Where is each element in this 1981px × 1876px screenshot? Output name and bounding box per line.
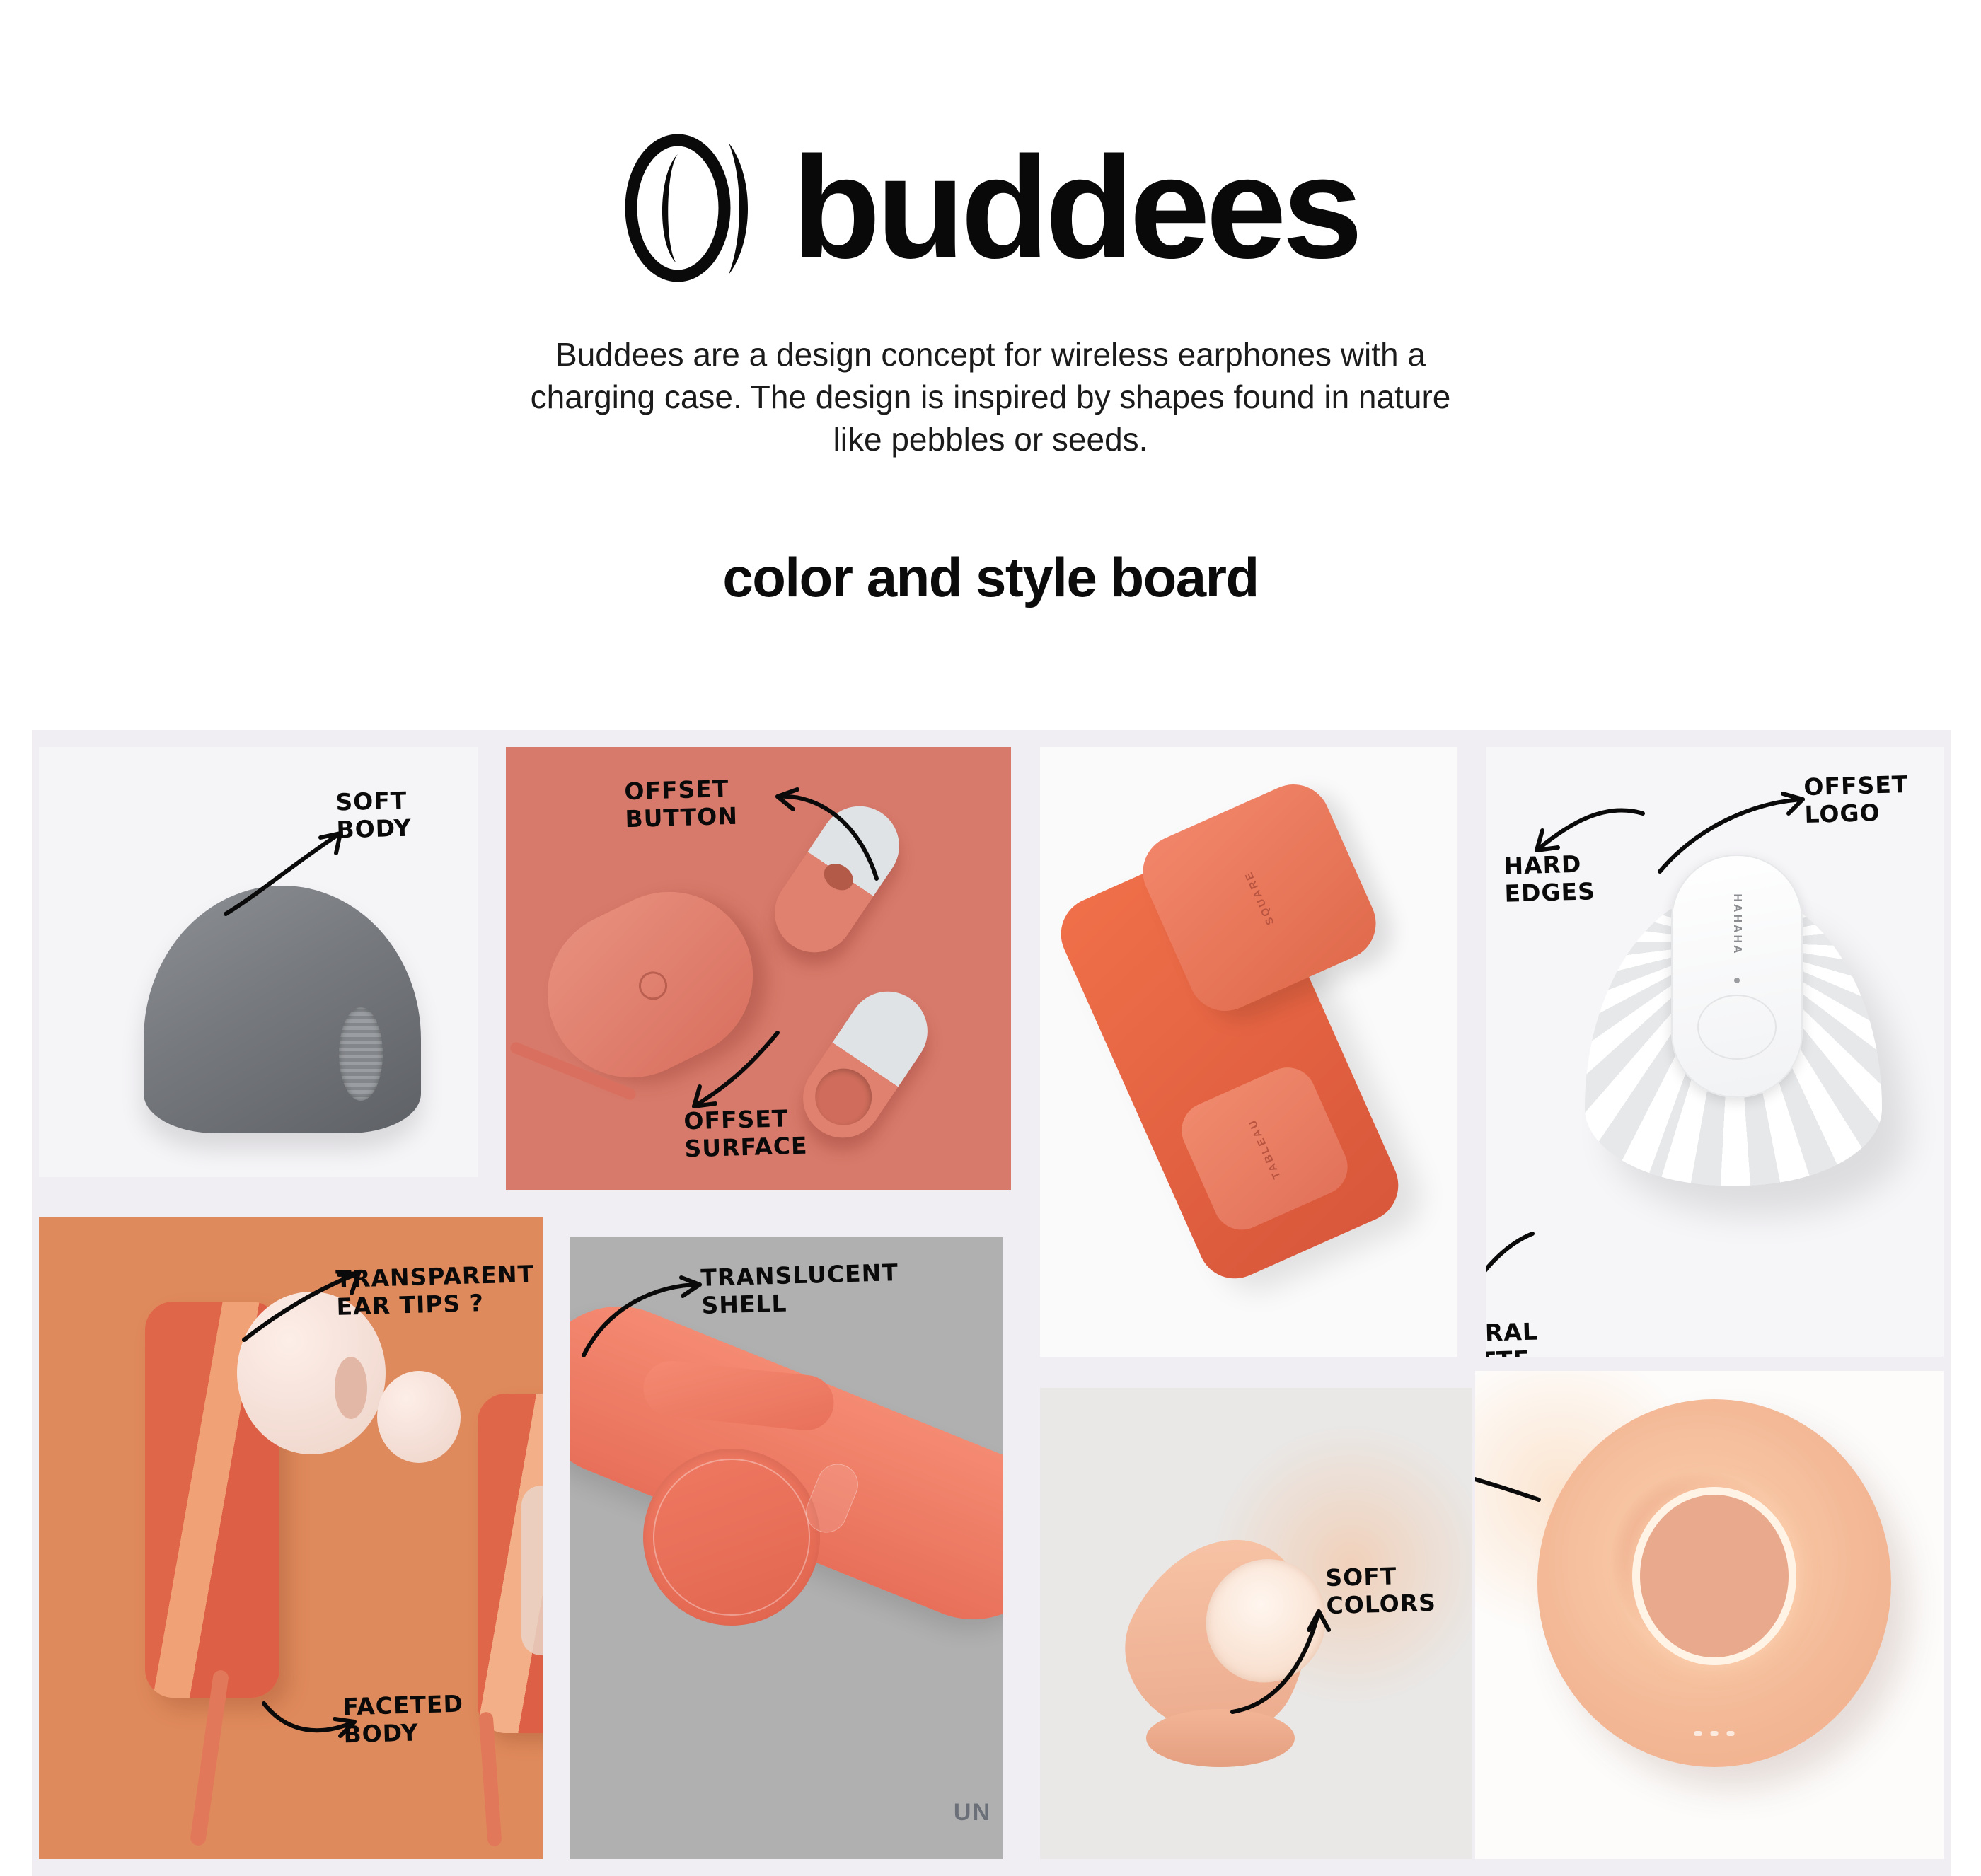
tile-soft-lamp[interactable]: Soft Colors [1040, 1388, 1472, 1859]
earbud-capsule-top [759, 791, 914, 968]
tile-hard-edges[interactable]: HAHAHA Offset Logo Hard Edges Neutral Pa… [1486, 747, 1944, 1357]
board-section-title: color and style board [0, 545, 1981, 610]
color-and-style-board: Soft Body Offset Button Offset Surface T… [32, 730, 1951, 1876]
orange-earbud-right-image [478, 1394, 543, 1733]
tile-translucent-shell[interactable]: UN Translucent Shell [570, 1237, 1003, 1859]
annotation-offset-surface: Offset Surface [683, 1105, 808, 1164]
device-word-label: UN [954, 1799, 991, 1826]
tray-label-a: SQUARE [1242, 869, 1277, 927]
annotation-soft-colors: Soft Colors [1325, 1562, 1436, 1620]
brand-wordmark: buddees [792, 149, 1359, 267]
brand-lockup: buddees [623, 133, 1359, 283]
intro-paragraph: Buddees are a design concept for wireles… [509, 334, 1472, 461]
cone-top-module: HAHAHA [1671, 855, 1803, 1098]
earbud-touch-strip [521, 1486, 543, 1655]
annotation-hard-edges: Hard Edges [1503, 850, 1595, 908]
ring-inner-light [1640, 1495, 1789, 1657]
tube-round-cap [643, 1449, 820, 1626]
tile-faceted-body[interactable]: Transparent Ear Tips ? Faceted Body [39, 1217, 543, 1859]
tile-peach-ring[interactable] [1475, 1371, 1944, 1859]
annotation-offset-logo: Offset Logo [1803, 771, 1910, 829]
tile-soft-body[interactable]: Soft Body [39, 747, 478, 1177]
annotation-offset-button: Offset Button [624, 775, 739, 833]
peach-lamp-base [1146, 1709, 1295, 1767]
tray-inner-panel: TABLEAU [1172, 1058, 1356, 1239]
grey-dome-case-image [144, 886, 421, 1133]
arrow-to-neutral-palette-icon [1486, 1227, 1549, 1333]
cone-button[interactable] [1697, 995, 1777, 1060]
peach-ring-lamp-image [1537, 1399, 1891, 1767]
tray-label-b: TABLEAU [1246, 1116, 1283, 1181]
ring-indicator-dots-icon [1694, 1731, 1735, 1736]
annotation-translucent-shell: Translucent Shell [700, 1259, 899, 1320]
tile-orange-trays[interactable]: TABLEAU SQUARE [1040, 747, 1457, 1357]
tile-offset-case[interactable]: Offset Button Offset Surface [506, 747, 1011, 1190]
annotation-neutral-palette: Neutral Palette [1486, 1319, 1540, 1357]
led-indicator-icon [1734, 978, 1740, 983]
device-brand-label: HAHAHA [1731, 893, 1743, 955]
annotation-faceted-body: Faceted Body [342, 1691, 465, 1749]
annotation-soft-body: Soft Body [335, 787, 412, 845]
ellipse-seed-logo-icon [623, 133, 761, 283]
translucent-ear-tip-right [377, 1371, 461, 1463]
tube-cap-ring [653, 1459, 810, 1616]
earbud-capsule-bottom [787, 976, 942, 1153]
annotation-transparent-ear-tips: Transparent Ear Tips ? [335, 1261, 536, 1321]
page-header: buddees Buddees are a design concept for… [0, 0, 1981, 610]
